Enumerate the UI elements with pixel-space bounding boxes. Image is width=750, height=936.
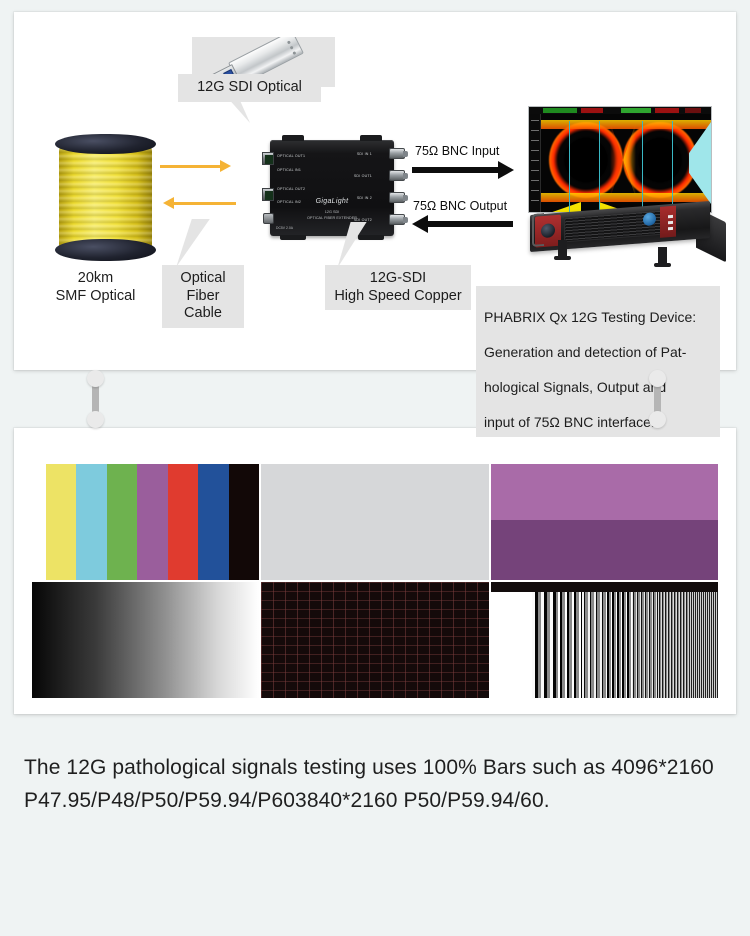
bnc-output-arrow-head bbox=[412, 215, 428, 233]
multiburst-pattern bbox=[491, 582, 718, 698]
extender-ear-left bbox=[282, 135, 304, 141]
spool-flange-bottom bbox=[55, 239, 156, 261]
extender-ear-right bbox=[360, 135, 382, 141]
bnc-connector-1 bbox=[389, 148, 405, 159]
optical-arrow-right-head bbox=[220, 160, 231, 172]
flat-field bbox=[261, 464, 488, 580]
color-bars-pattern bbox=[32, 464, 259, 580]
eye-cursor-2 bbox=[599, 121, 600, 212]
label-copper: 12G-SDI High Speed Copper bbox=[325, 265, 471, 310]
optical-jack-1 bbox=[262, 152, 274, 165]
extender-brand: GigaLight bbox=[270, 198, 394, 205]
bnc-output-arrow-line bbox=[425, 221, 513, 227]
color-bars bbox=[32, 464, 259, 580]
phabrix-led-1 bbox=[668, 215, 673, 218]
phabrix-caption-line4: input of 75Ω BNC interface. bbox=[484, 414, 655, 430]
spool-flange-top bbox=[55, 134, 156, 154]
page-root: OPTICAL OUT1 OPTICAL IN1 OPTICAL OUT2 OP… bbox=[0, 0, 750, 936]
phabrix-qx-device bbox=[526, 202, 726, 270]
two-tone-magenta-pattern bbox=[491, 464, 718, 580]
connector-pin-left bbox=[87, 370, 104, 428]
phabrix-foot-right bbox=[658, 247, 667, 267]
label-sfp: 12G SDI Optical bbox=[178, 74, 321, 102]
connector-pin-right bbox=[649, 370, 666, 428]
grayscale-ramp bbox=[32, 582, 259, 698]
eye-cyan-edge bbox=[689, 122, 711, 204]
bnc-connector-2 bbox=[389, 170, 405, 181]
bottom-caption: The 12G pathological signals testing use… bbox=[24, 752, 730, 817]
phabrix-foot-left bbox=[558, 240, 567, 260]
extender-model-line2: OPTICAL FIBER EXTENDER bbox=[270, 216, 394, 221]
sfp-dot-1 bbox=[287, 40, 291, 44]
diagram-card: OPTICAL OUT1 OPTICAL IN1 OPTICAL OUT2 OP… bbox=[14, 12, 736, 370]
label-fiber-spool: 20km SMF Optical bbox=[32, 265, 159, 310]
eye-band-top bbox=[541, 120, 711, 129]
phabrix-handle bbox=[532, 213, 544, 247]
port-label-sdi-in1: SDI IN 1 bbox=[357, 152, 372, 156]
pathological-grid-pattern bbox=[261, 582, 488, 698]
extender-model-line1: 12G SDI bbox=[270, 210, 394, 215]
port-label-optical-in1: OPTICAL IN1 bbox=[277, 168, 301, 172]
eye-canvas bbox=[541, 114, 711, 212]
port-label-sdi-out1: SDI OUT1 bbox=[354, 174, 372, 178]
bnc-input-label: 75Ω BNC Input bbox=[415, 144, 499, 158]
label-fiber-cable-tail bbox=[176, 219, 210, 267]
flat-field-pattern bbox=[261, 464, 488, 580]
spool-body bbox=[59, 145, 152, 251]
phabrix-vent-grille bbox=[564, 209, 674, 243]
optical-arrow-left-line bbox=[174, 202, 236, 205]
optical-arrow-right-line bbox=[160, 165, 222, 168]
eye-band-bottom bbox=[541, 193, 711, 202]
phabrix-caption-line2: Generation and detection of Pat- bbox=[484, 344, 686, 360]
pathological-grid bbox=[261, 582, 488, 698]
fiber-spool-icon bbox=[55, 134, 156, 261]
phabrix-caption-line3: hological Signals, Output and bbox=[484, 379, 666, 395]
label-phabrix-caption: PHABRIX Qx 12G Testing Device: Generatio… bbox=[476, 286, 720, 437]
port-label-optical-out2: OPTICAL OUT2 bbox=[277, 187, 305, 191]
eye-cursor-3 bbox=[642, 121, 643, 212]
test-pattern-grid bbox=[32, 464, 718, 698]
eye-cursor-4 bbox=[672, 121, 673, 212]
bnc-output-label: 75Ω BNC Output bbox=[413, 199, 507, 213]
bnc-input-arrow-line bbox=[412, 167, 500, 173]
grayscale-ramp-pattern bbox=[32, 582, 259, 698]
eye-cursor-1 bbox=[569, 121, 570, 212]
two-tone-split bbox=[491, 464, 718, 580]
eye-status-bar bbox=[529, 107, 711, 114]
phabrix-led-3 bbox=[668, 227, 673, 230]
optical-fiber-extender-device: OPTICAL OUT1 OPTICAL IN1 OPTICAL OUT2 OP… bbox=[270, 140, 394, 236]
phabrix-caption-line1: PHABRIX Qx 12G Testing Device: bbox=[484, 309, 696, 325]
eye-scale-axis bbox=[529, 114, 541, 212]
eye-diagram-display bbox=[528, 106, 712, 213]
port-label-optical-out1: OPTICAL OUT1 bbox=[277, 154, 305, 158]
bnc-input-arrow-head bbox=[498, 161, 514, 179]
label-fiber-cable: Optical Fiber Cable bbox=[162, 265, 244, 328]
phabrix-led-2 bbox=[668, 221, 673, 224]
extender-side-text: DC5V 2.0A bbox=[276, 226, 293, 230]
optical-arrow-left-head bbox=[163, 197, 174, 209]
sfp-dot-3 bbox=[292, 51, 296, 55]
sfp-dot-2 bbox=[290, 46, 294, 50]
extender-foot-left bbox=[280, 235, 306, 240]
phabrix-chassis bbox=[530, 201, 710, 252]
multiburst bbox=[491, 582, 718, 698]
